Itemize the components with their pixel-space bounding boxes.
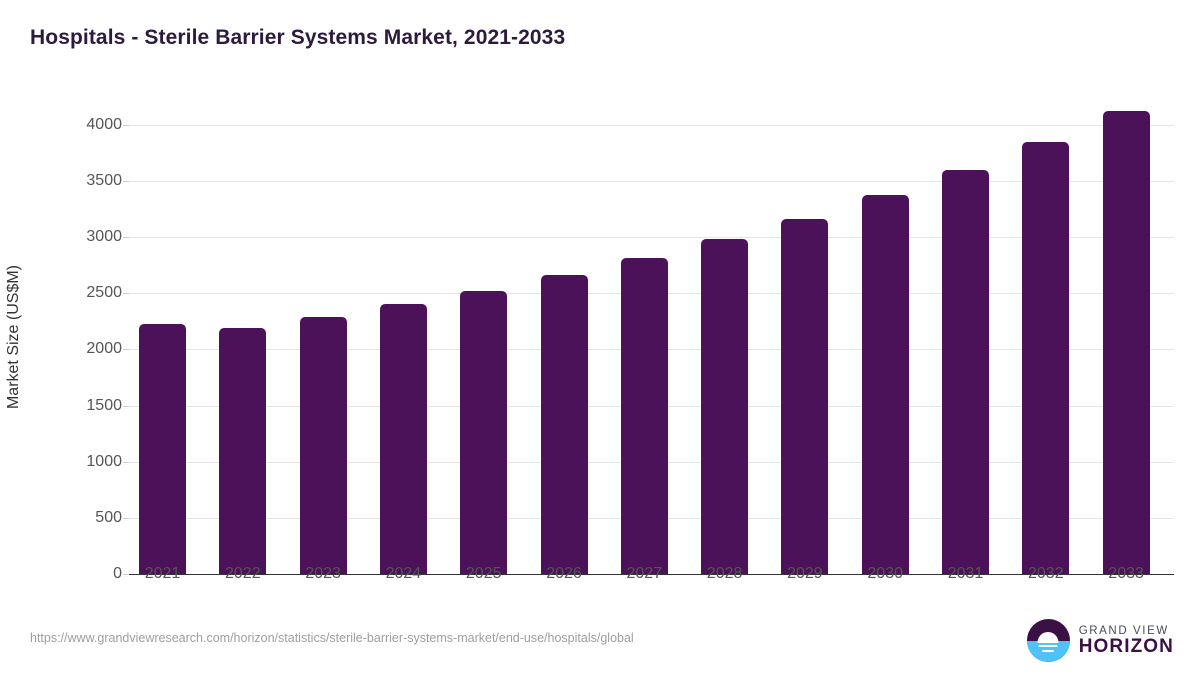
x-tick-label-2025: 2025 [466, 565, 502, 583]
y-tick-label-500: 500 [95, 509, 122, 527]
source-url[interactable]: https://www.grandviewresearch.com/horizo… [30, 631, 634, 645]
bar-2024[interactable] [380, 304, 427, 574]
x-tick-label-2024: 2024 [386, 565, 422, 583]
bar-2027[interactable] [621, 258, 668, 574]
y-tick-label-1500: 1500 [86, 397, 122, 415]
y-tick-label-2500: 2500 [86, 284, 122, 302]
bar-2030[interactable] [862, 195, 909, 574]
bar-2026[interactable] [541, 275, 588, 574]
y-tick-label-3500: 3500 [86, 172, 122, 190]
x-tick-label-2023: 2023 [305, 565, 341, 583]
x-tick-label-2032: 2032 [1028, 565, 1064, 583]
y-tick-label-4000: 4000 [86, 116, 122, 134]
logo-text-line-2: HORIZON [1079, 637, 1174, 657]
x-tick-label-2021: 2021 [145, 565, 181, 583]
grand-view-horizon-logo[interactable]: GRAND VIEW HORIZON [1027, 619, 1174, 662]
logo-ray-line-2 [1042, 650, 1054, 653]
bar-2032[interactable] [1022, 142, 1069, 574]
x-tick-label-2028: 2028 [707, 565, 743, 583]
bar-2021[interactable] [139, 324, 186, 574]
bar-2023[interactable] [300, 317, 347, 574]
x-tick-label-2031: 2031 [948, 565, 984, 583]
logo-sun-dome [1038, 632, 1059, 643]
y-tick-label-3000: 3000 [86, 228, 122, 246]
plot-area [129, 100, 1174, 574]
bar-2029[interactable] [781, 219, 828, 575]
x-axis-tick-labels: 2021202220232024202520262027202820292030… [129, 565, 1174, 593]
page-title: Hospitals - Sterile Barrier Systems Mark… [30, 26, 565, 50]
bar-2022[interactable] [219, 328, 266, 574]
logo-text-line-1: GRAND VIEW [1079, 625, 1174, 637]
y-axis-tick-labels: 05001000150020002500300035004000 [0, 100, 122, 574]
logo-wordmark: GRAND VIEW HORIZON [1079, 625, 1174, 657]
logo-ray-line-1 [1039, 645, 1058, 648]
horizon-sunrise-icon [1027, 619, 1070, 662]
chart-page: Hospitals - Sterile Barrier Systems Mark… [0, 0, 1200, 675]
y-tick-label-0: 0 [113, 565, 122, 583]
bar-series [129, 100, 1174, 574]
x-tick-label-2027: 2027 [627, 565, 663, 583]
x-tick-label-2033: 2033 [1108, 565, 1144, 583]
y-tick-label-1000: 1000 [86, 453, 122, 471]
y-tick-label-2000: 2000 [86, 340, 122, 358]
x-tick-label-2030: 2030 [867, 565, 903, 583]
bar-2028[interactable] [701, 239, 748, 574]
bar-2033[interactable] [1103, 111, 1150, 574]
bar-2031[interactable] [942, 170, 989, 574]
x-tick-label-2026: 2026 [546, 565, 582, 583]
bar-2025[interactable] [460, 291, 507, 574]
x-tick-label-2029: 2029 [787, 565, 823, 583]
x-tick-label-2022: 2022 [225, 565, 261, 583]
